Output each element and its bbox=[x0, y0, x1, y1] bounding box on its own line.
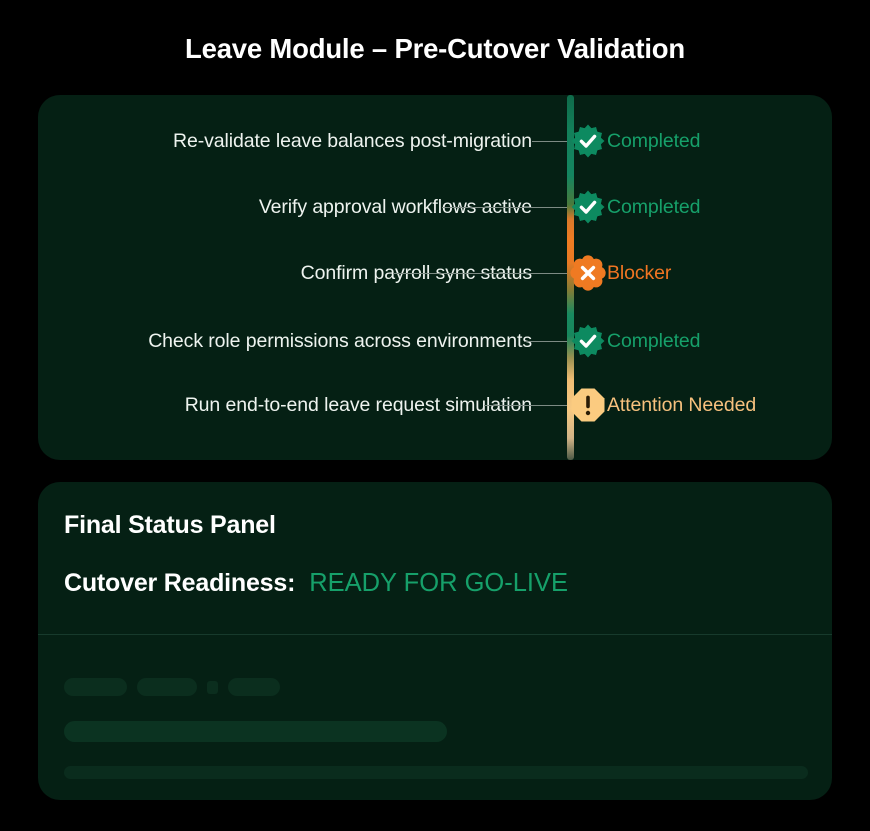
checklist-row-label: Run end-to-end leave request simulation bbox=[185, 394, 532, 417]
check-badge-icon bbox=[570, 189, 606, 225]
checklist-row[interactable]: Check role permissions across environmen… bbox=[38, 321, 832, 361]
check-badge-icon bbox=[570, 323, 606, 359]
final-panel-title: Final Status Panel bbox=[64, 511, 276, 540]
x-badge-icon bbox=[570, 255, 606, 291]
skeleton-dot bbox=[207, 681, 218, 694]
status-label: Attention Needed bbox=[607, 394, 756, 417]
check-badge-icon bbox=[570, 123, 606, 159]
skeleton-pill-group bbox=[64, 678, 280, 696]
skeleton-bar-primary bbox=[64, 721, 447, 742]
status-label: Completed bbox=[607, 130, 700, 153]
row-connector-line bbox=[484, 405, 570, 406]
checklist-row[interactable]: Re-validate leave balances post-migratio… bbox=[38, 121, 832, 161]
cutover-readiness-label: Cutover Readiness: bbox=[64, 569, 295, 598]
timeline-spine bbox=[567, 95, 574, 460]
status-label: Blocker bbox=[607, 262, 671, 285]
status-label: Completed bbox=[607, 196, 700, 219]
row-connector-line bbox=[532, 141, 570, 142]
skeleton-bar-secondary bbox=[64, 766, 808, 779]
panel-divider bbox=[38, 634, 832, 635]
validation-checklist-card: Re-validate leave balances post-migratio… bbox=[38, 95, 832, 460]
row-connector-line bbox=[524, 341, 570, 342]
cutover-readiness: Cutover Readiness: READY FOR GO-LIVE bbox=[64, 569, 568, 598]
row-connector-line bbox=[442, 207, 570, 208]
checklist-row-label: Check role permissions across environmen… bbox=[148, 330, 532, 353]
skeleton-pill bbox=[64, 678, 127, 696]
cutover-readiness-value: READY FOR GO-LIVE bbox=[309, 569, 568, 598]
skeleton-pill bbox=[137, 678, 197, 696]
status-label: Completed bbox=[607, 330, 700, 353]
warning-octagon-icon bbox=[570, 387, 606, 423]
skeleton-pill bbox=[228, 678, 280, 696]
row-connector-line bbox=[393, 273, 570, 274]
checklist-row[interactable]: Confirm payroll sync status Blocker bbox=[38, 253, 832, 293]
checklist-row[interactable]: Verify approval workflows active Complet… bbox=[38, 187, 832, 227]
checklist-row-label: Re-validate leave balances post-migratio… bbox=[173, 130, 532, 153]
checklist-row[interactable]: Run end-to-end leave request simulation … bbox=[38, 385, 832, 425]
final-status-panel: Final Status Panel Cutover Readiness: RE… bbox=[38, 482, 832, 800]
page-title: Leave Module – Pre-Cutover Validation bbox=[0, 33, 870, 65]
